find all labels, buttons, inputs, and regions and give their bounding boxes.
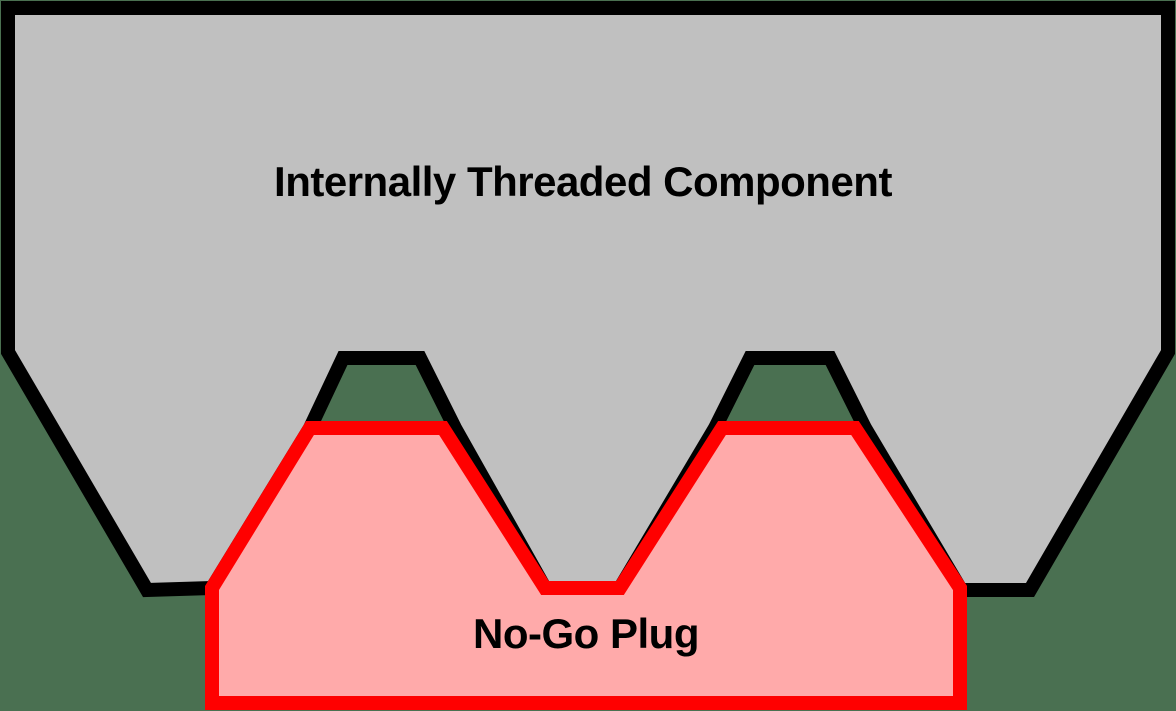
component-label: Internally Threaded Component [274, 158, 892, 205]
internally-threaded-component-shape [8, 8, 1168, 590]
plug-label: No-Go Plug [473, 610, 699, 657]
thread-gauge-diagram: Internally Threaded Component No-Go Plug [0, 0, 1176, 711]
diagram-root: Internally Threaded Component No-Go Plug [0, 0, 1176, 711]
